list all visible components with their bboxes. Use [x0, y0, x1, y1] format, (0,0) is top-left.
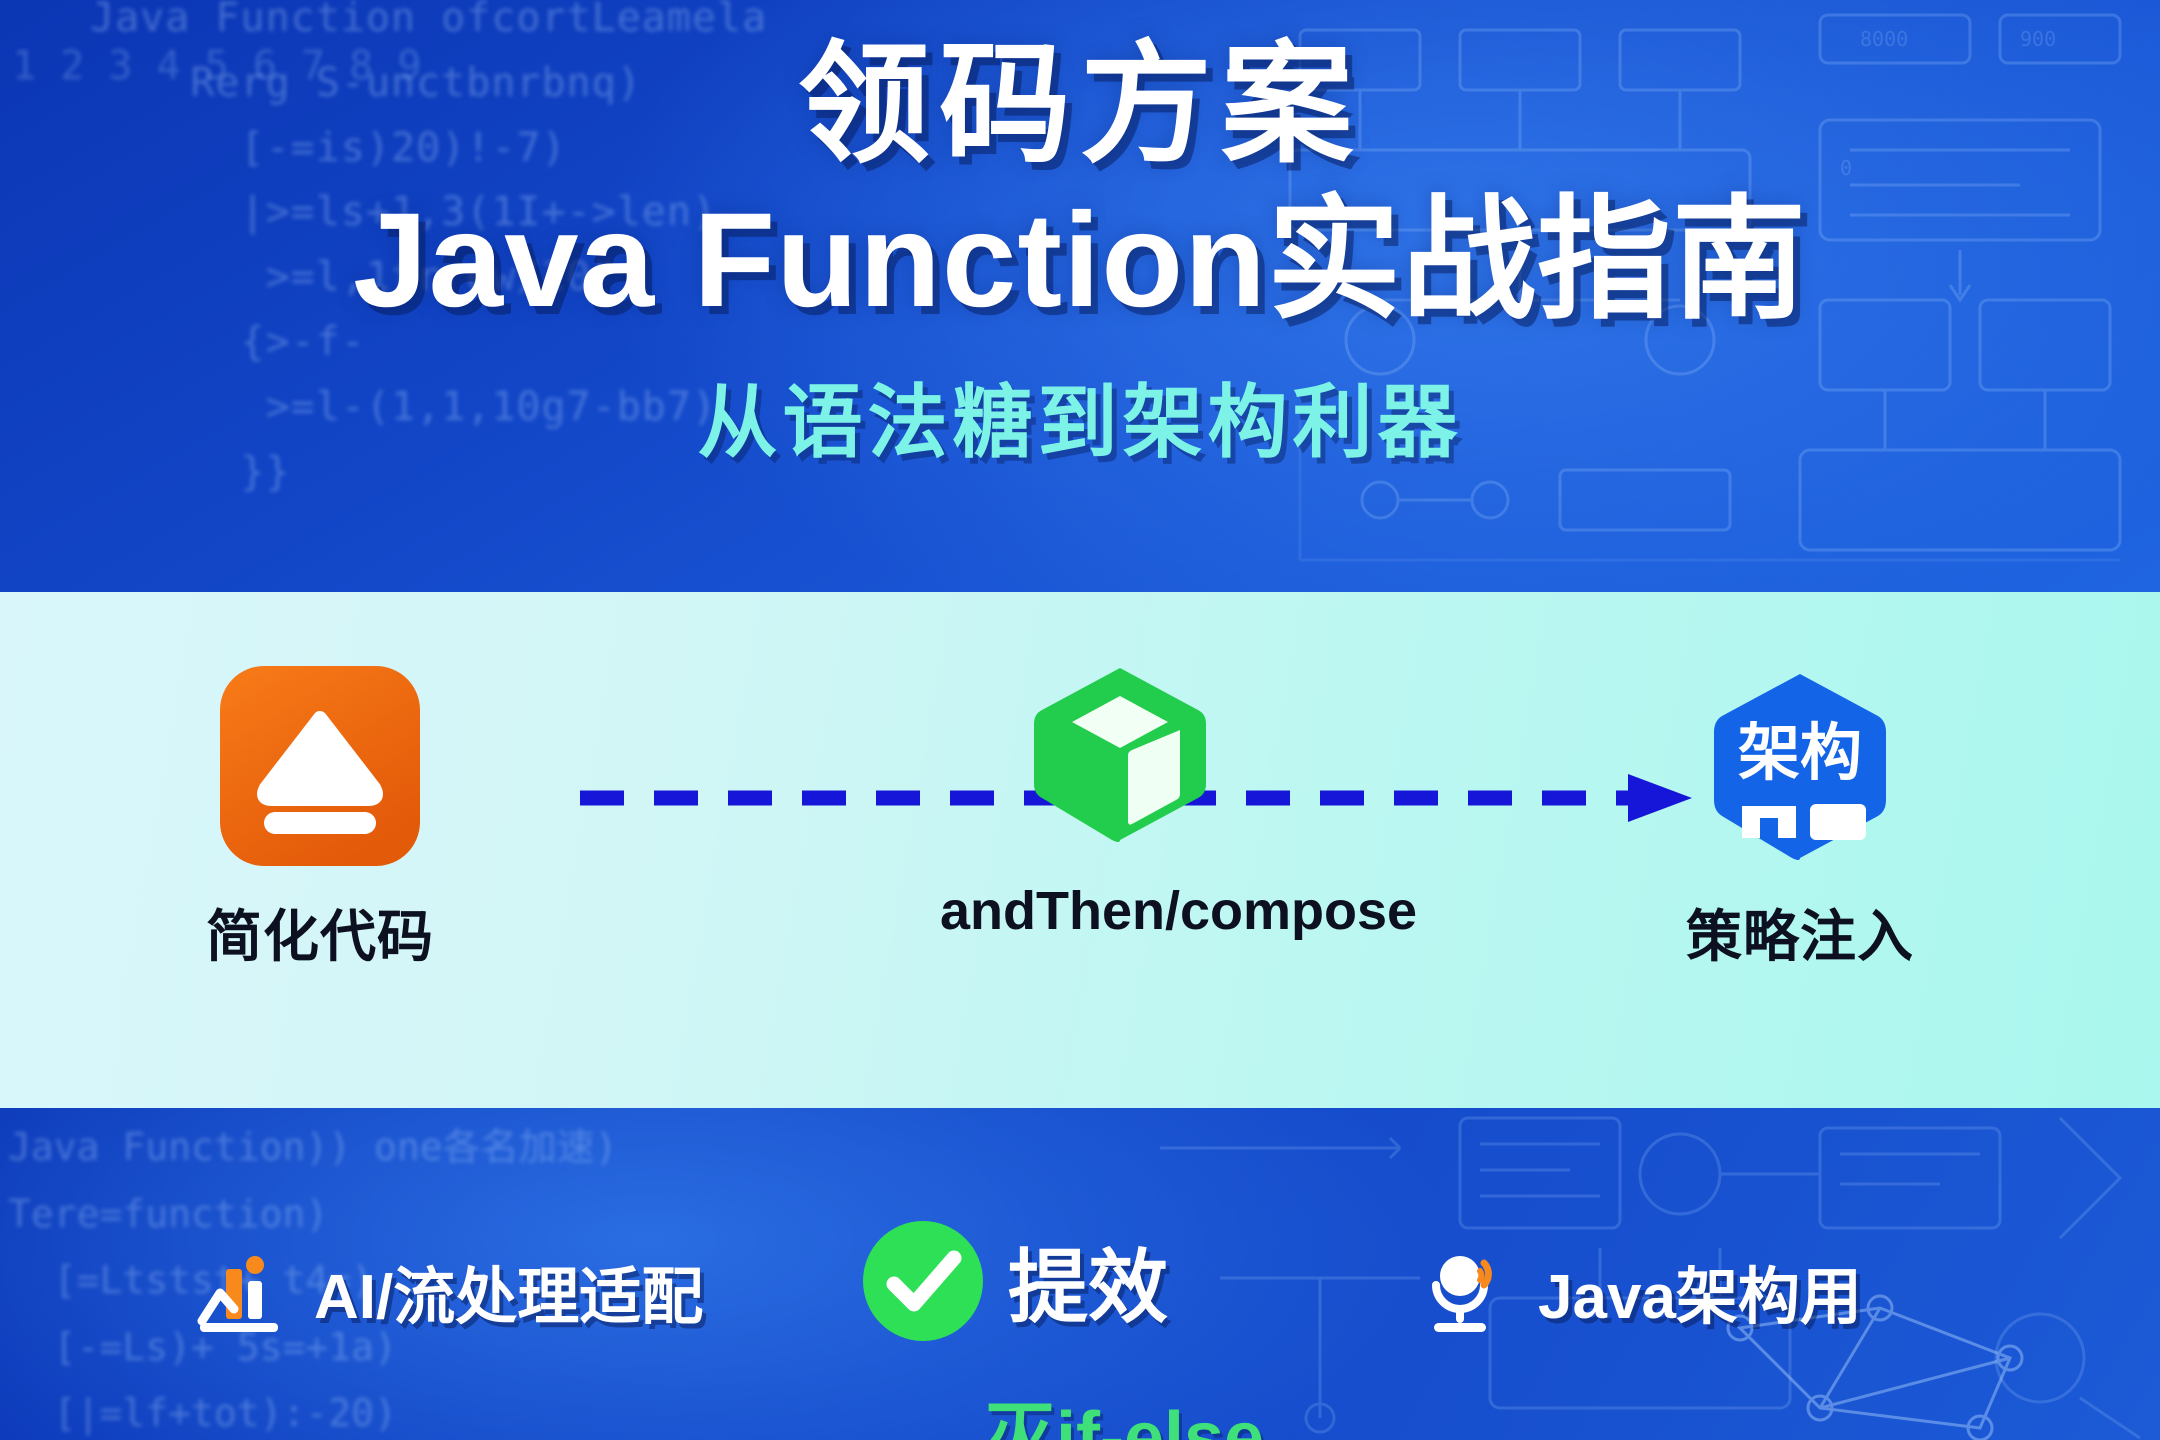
feature-efficiency-label: 提效: [1008, 1223, 1168, 1339]
feature-java-architecture-label: Java架构用: [1538, 1246, 1862, 1336]
poster-root: 1 2 3 4 5 6 7 8 9 Java Function ofcortLe…: [0, 0, 2160, 1440]
flow-diagram: 简化代码 andThen/compose 架构 策略注入: [0, 592, 2160, 1108]
cube-icon: [1020, 654, 1220, 854]
flow-step-2-label: andThen/compose: [940, 880, 1300, 942]
feature-ai-stream[interactable]: AI/流处理适配: [196, 1243, 703, 1339]
main-title: Java Function实战指南: [0, 187, 2160, 334]
feature-java-architecture[interactable]: Java架构用: [1420, 1243, 1862, 1339]
check-circle-icon: [860, 1218, 986, 1344]
architecture-hexagon-icon: 架构: [1700, 666, 1900, 866]
tagline: 从语法糖到架构利器: [0, 358, 2160, 474]
hero-title-block: 领码方案 Java Function实战指南 从语法糖到架构利器: [0, 0, 2160, 474]
flow-step-1-label: 简化代码: [140, 892, 500, 973]
bar-chart-icon: [196, 1243, 292, 1339]
hexagon-label: 架构: [1738, 719, 1862, 788]
flow-step-2[interactable]: andThen/compose: [940, 654, 1300, 942]
flow-band: 简化代码 andThen/compose 架构 策略注入: [0, 592, 2160, 1108]
microphone-icon: [1420, 1243, 1516, 1339]
flow-step-3[interactable]: 架构 策略注入: [1620, 666, 1980, 973]
feature-ai-stream-label: AI/流处理适配: [314, 1246, 703, 1336]
feature-efficiency[interactable]: 提效: [860, 1218, 1168, 1344]
eject-icon: [220, 666, 420, 866]
highlight-text: 灭if-else: [984, 1378, 1264, 1440]
hero-band: 1 2 3 4 5 6 7 8 9 Java Function ofcortLe…: [0, 0, 2160, 592]
flow-step-3-label: 策略注入: [1620, 892, 1980, 973]
brand-title: 领码方案: [0, 34, 2160, 177]
flow-step-1[interactable]: 简化代码: [140, 666, 500, 973]
